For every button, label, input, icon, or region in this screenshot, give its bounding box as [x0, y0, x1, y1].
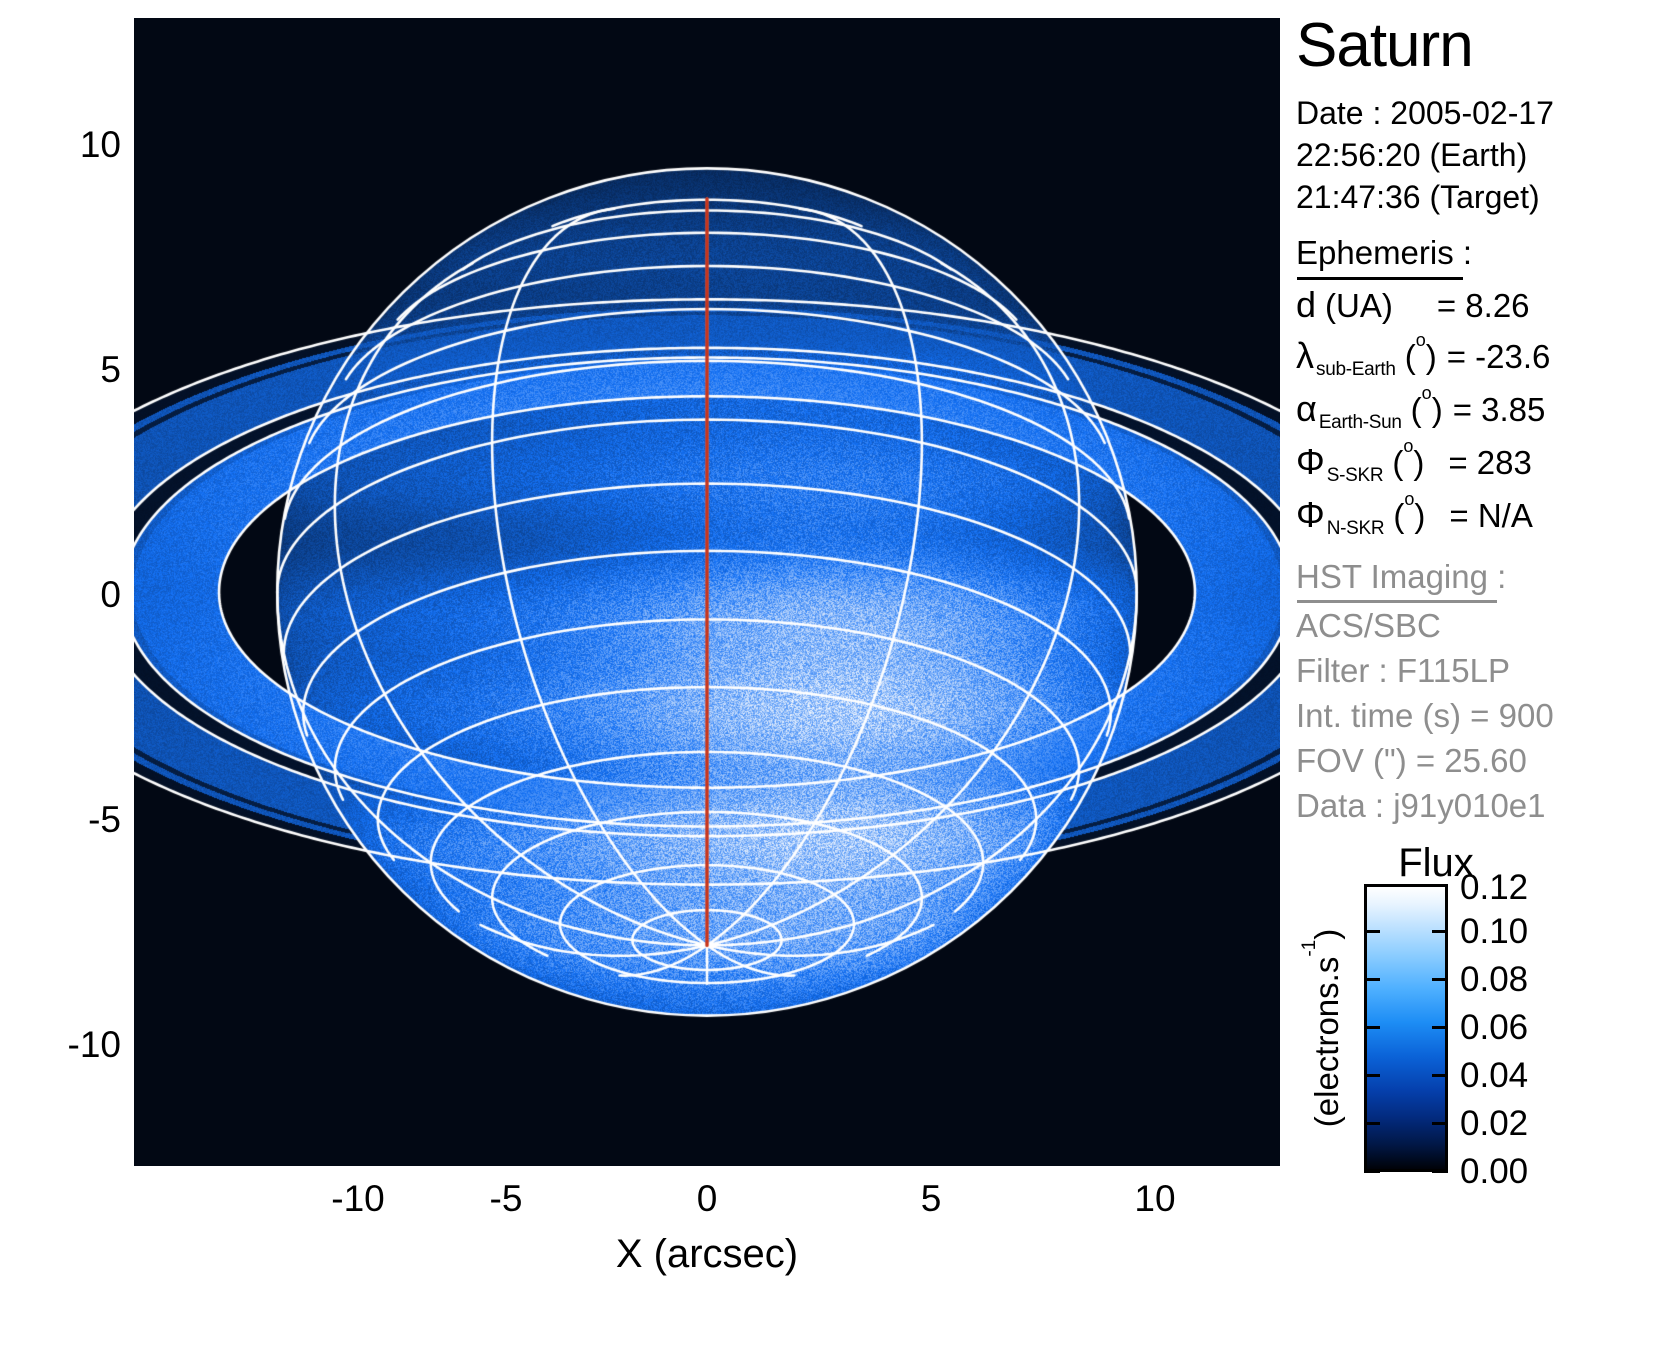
y-tick-label: 10 [80, 124, 121, 166]
y-tick-label: -5 [88, 799, 121, 841]
x-tick-label: 5 [921, 1178, 942, 1220]
ephemeris-unit: (o) [1393, 497, 1425, 535]
x-tick-label: -5 [490, 1178, 523, 1220]
ephemeris-row-alpha: α Earth-Sun (o) = 3.85 [1296, 388, 1545, 430]
ephemeris-subscript: S-SKR [1327, 465, 1384, 487]
ephemeris-subscript: Earth-Sun [1319, 412, 1402, 434]
ephemeris-symbol: Φ [1296, 494, 1325, 536]
ephemeris-value: = 3.85 [1453, 391, 1546, 429]
hst-heading: HST Imaging : [1296, 558, 1506, 596]
ephemeris-subscript: sub-Earth [1316, 359, 1396, 381]
ephemeris-unit: (o) [1405, 338, 1437, 376]
hst-instrument: ACS/SBC [1296, 607, 1441, 645]
ephemeris-value: = 283 [1448, 444, 1532, 482]
y-tick-label: 0 [100, 574, 121, 616]
ephemeris-subscript: N-SKR [1327, 518, 1385, 540]
colorbar-tick-label: 0.04 [1460, 1056, 1528, 1096]
colorbar-tick-label: 0.06 [1460, 1008, 1528, 1048]
ephemeris-unit: (o) [1411, 391, 1443, 429]
ephemeris-row-phi-s: Φ S-SKR (o) = 283 [1296, 441, 1532, 483]
saturn-heatmap-canvas [134, 18, 1280, 1166]
hst-filter: Filter : F115LP [1296, 652, 1510, 690]
ephemeris-value: = 8.26 [1437, 287, 1530, 325]
y-tick-label: -10 [68, 1024, 121, 1066]
observation-time-target: 21:47:36 (Target) [1296, 179, 1540, 216]
x-tick-label: 10 [1134, 1178, 1175, 1220]
ephemeris-symbol: α [1296, 388, 1317, 430]
colorbar-tick-label: 0.08 [1460, 960, 1528, 1000]
x-tick-label: 0 [697, 1178, 718, 1220]
x-tick-label: -10 [331, 1178, 384, 1220]
ephemeris-row-d: d (UA) = 8.26 [1296, 284, 1530, 326]
colorbar-tick-label: 0.02 [1460, 1104, 1528, 1144]
observation-time-earth: 22:56:20 (Earth) [1296, 137, 1527, 174]
ephemeris-row-phi-n: Φ N-SKR (o) = N/A [1296, 494, 1533, 536]
colorbar-unit-label: (electrons.s-1) [1308, 929, 1346, 1127]
ephemeris-heading: Ephemeris : [1296, 234, 1472, 272]
colorbar-tick-label: 0.10 [1460, 912, 1528, 952]
colorbar-tick-label: 0.12 [1460, 868, 1528, 908]
y-tick-label: 5 [100, 349, 121, 391]
saturn-image-panel [134, 18, 1280, 1166]
ephemeris-row-lambda: λ sub-Earth (o) = -23.6 [1296, 335, 1550, 377]
observation-date: Date : 2005-02-17 [1296, 95, 1554, 132]
colorbar-tick-label: 0.00 [1460, 1152, 1528, 1192]
x-axis-title: X (arcsec) [616, 1232, 798, 1277]
ephemeris-unit: (UA) [1325, 287, 1393, 325]
hst-rule [1297, 600, 1497, 603]
ephemeris-value: = N/A [1449, 497, 1532, 535]
ephemeris-rule [1297, 277, 1463, 280]
ephemeris-symbol: Φ [1296, 441, 1325, 483]
ephemeris-symbol: d [1296, 284, 1316, 326]
ephemeris-value: = -23.6 [1447, 338, 1551, 376]
hst-data-id: Data : j91y010e1 [1296, 787, 1546, 825]
page-title: Saturn [1296, 10, 1473, 81]
ephemeris-unit: (o) [1392, 444, 1424, 482]
hst-int-time: Int. time (s) = 900 [1296, 697, 1554, 735]
hst-fov: FOV (") = 25.60 [1296, 742, 1527, 780]
ephemeris-symbol: λ [1296, 335, 1314, 377]
